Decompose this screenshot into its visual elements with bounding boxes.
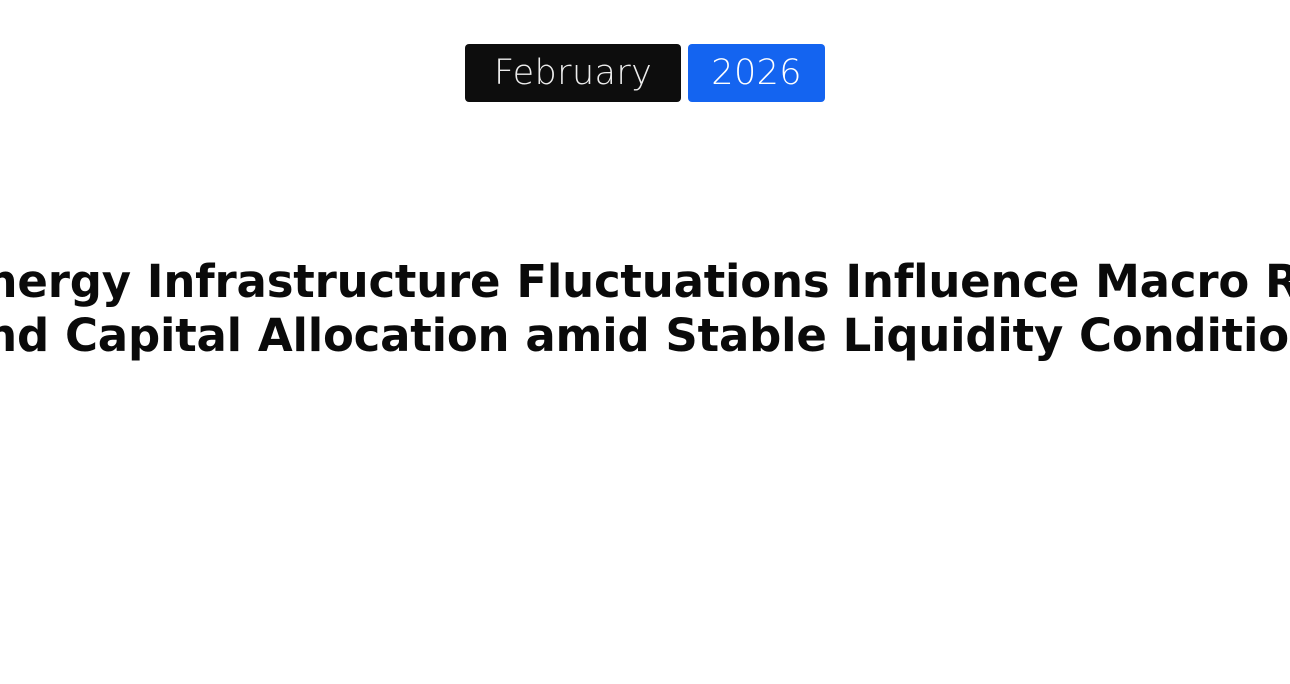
page-root: February 2026 Energy Infrastructure Fluc… — [0, 0, 1290, 684]
page-title: Energy Infrastructure Fluctuations Influ… — [0, 255, 1290, 363]
date-badge: February 2026 — [0, 44, 1290, 102]
month-badge: February — [465, 44, 681, 102]
year-badge: 2026 — [688, 44, 825, 102]
headline-block: Energy Infrastructure Fluctuations Influ… — [0, 255, 1290, 363]
